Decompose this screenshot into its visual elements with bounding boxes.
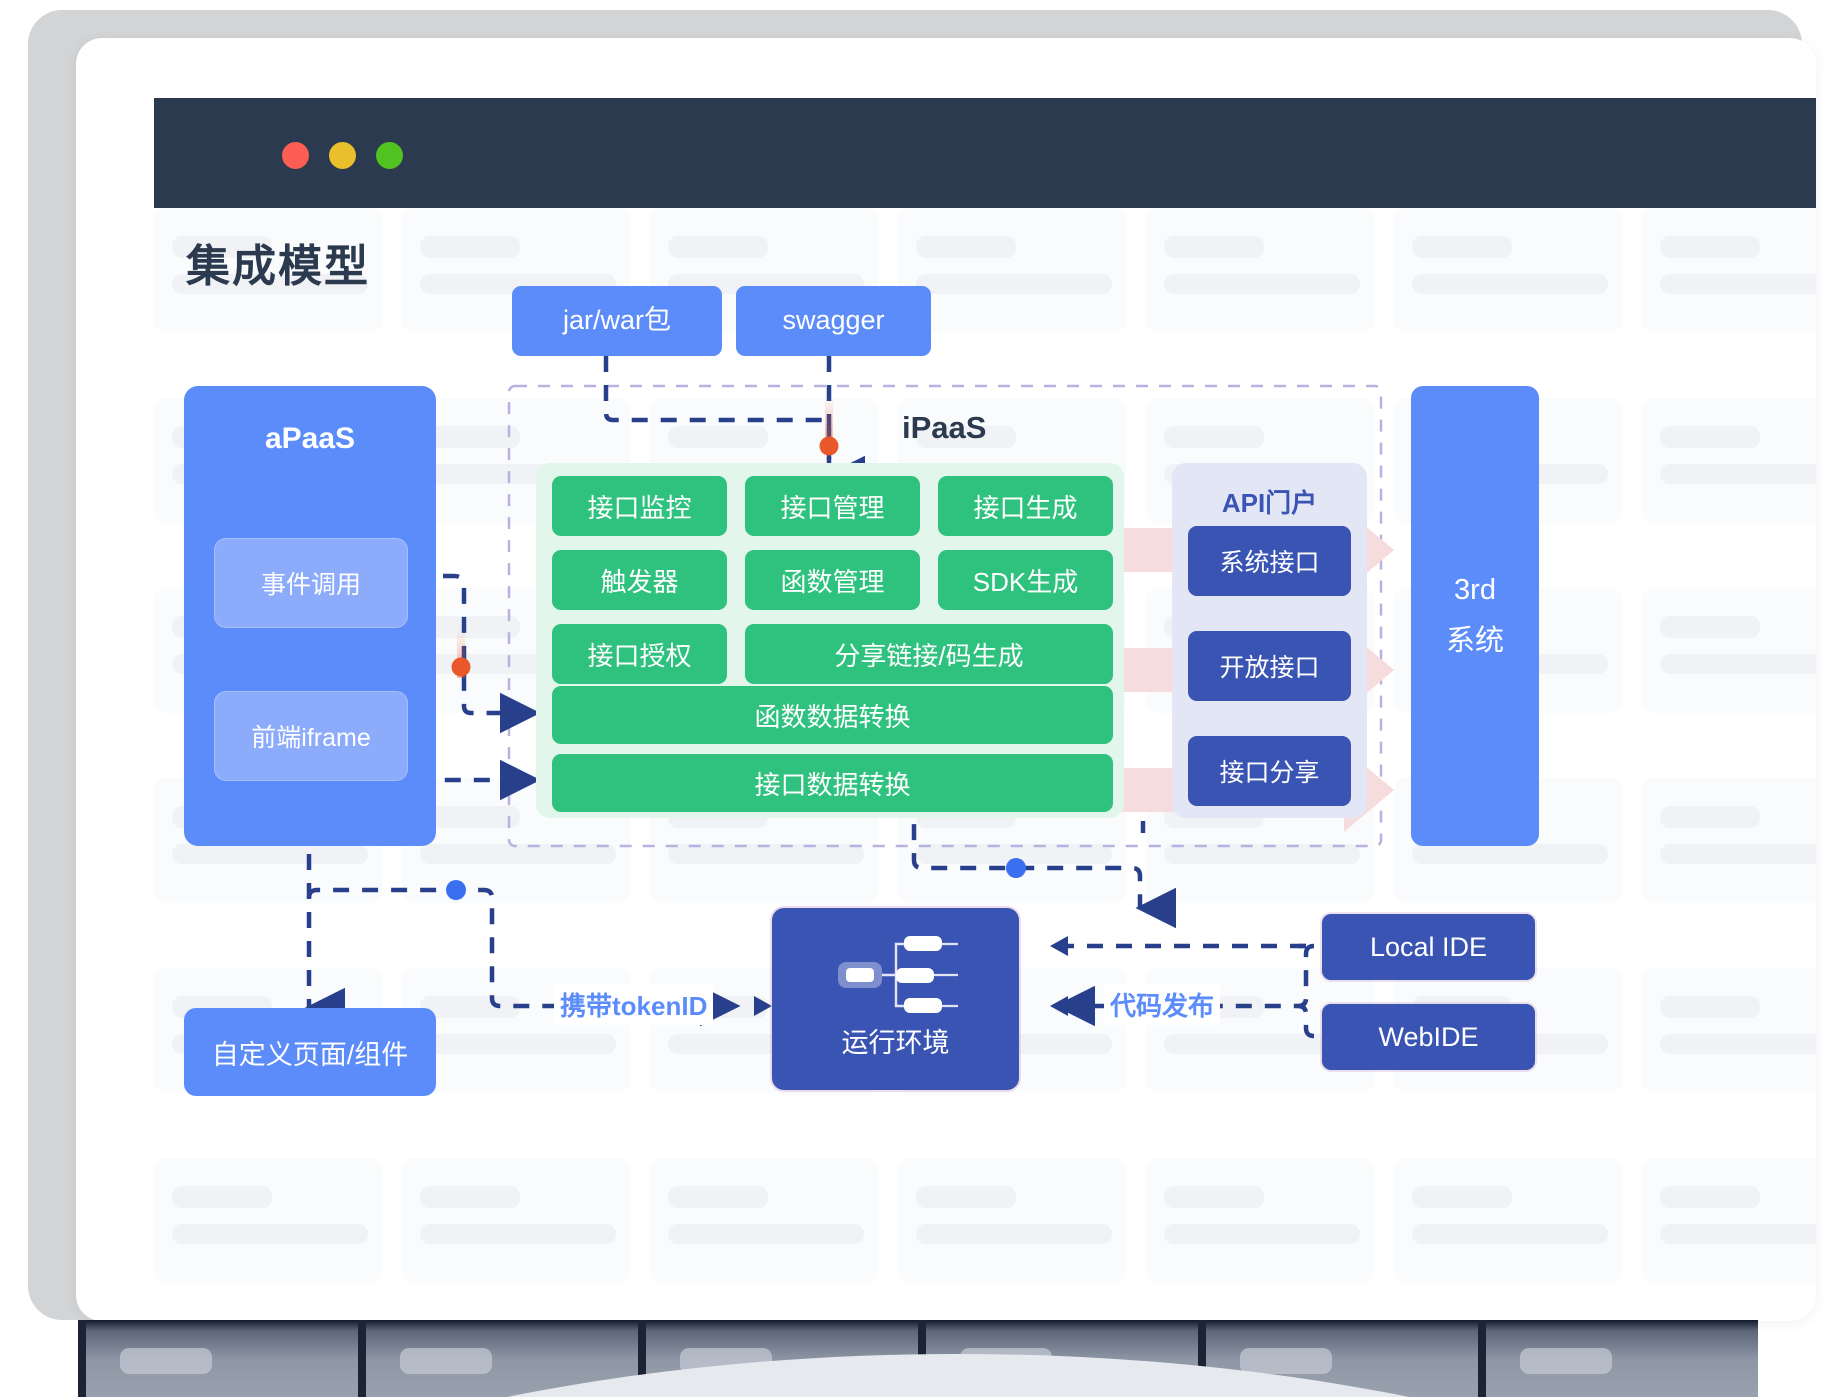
node-open-api-label: 开放接口 (1219, 648, 1319, 684)
hierarchy-icon (834, 930, 964, 1020)
node-local-ide-label: Local IDE (1370, 932, 1487, 963)
node-frontend-iframe-label: 前端iframe (251, 718, 370, 754)
node-function-data-transform[interactable]: 函数数据转换 (552, 686, 1113, 744)
node-api-auth-label: 接口授权 (587, 636, 691, 673)
flow-dot-4 (1006, 858, 1026, 878)
node-web-ide[interactable]: WebIDE (1322, 1004, 1535, 1070)
arrowhead-runtime-left (754, 996, 772, 1016)
arrowhead-runtime-right (1050, 996, 1068, 1016)
node-custom-page[interactable]: 自定义页面/组件 (184, 1008, 436, 1096)
node-function-data-transform-label: 函数数据转换 (754, 697, 910, 734)
node-api-data-transform-label: 接口数据转换 (754, 765, 910, 802)
edge-iframe-to-api-transform (424, 708, 536, 780)
node-share-link-label: 分享链接/码生成 (834, 636, 1023, 673)
node-api-auth[interactable]: 接口授权 (552, 624, 727, 684)
maximize-icon[interactable] (376, 142, 403, 169)
node-swagger[interactable]: swagger (736, 286, 931, 356)
node-third-system-line2: 系统 (1446, 617, 1504, 659)
node-jar-war[interactable]: jar/war包 (512, 286, 722, 356)
node-api-manage-label: 接口管理 (780, 488, 884, 525)
edge-web-ide-to-runtime (1298, 1006, 1314, 1036)
close-icon[interactable] (282, 142, 309, 169)
edge-label-code-publish: 代码发布 (1104, 984, 1220, 1025)
diagram-canvas: jar/war包 swagger aPaaS 事件调用 前端iframe iPa… (154, 208, 1816, 1321)
api-portal-title: API门户 (1172, 483, 1367, 520)
device-bezel (78, 1320, 1758, 1397)
browser-window: 集成模型 (76, 38, 1816, 1321)
node-third-system-line1: 3rd (1454, 574, 1496, 607)
node-api-monitor-label: 接口监控 (587, 488, 691, 525)
node-api-monitor[interactable]: 接口监控 (552, 476, 727, 536)
node-third-system[interactable]: 3rd 系统 (1411, 386, 1539, 846)
flow-dot-1 (820, 437, 839, 456)
node-apaas[interactable]: aPaaS 事件调用 前端iframe (184, 386, 436, 846)
edge-label-token-id: 携带tokenID (554, 984, 713, 1025)
node-sdk-generate[interactable]: SDK生成 (938, 550, 1113, 610)
node-custom-page-label: 自定义页面/组件 (212, 1033, 409, 1072)
node-local-ide[interactable]: Local IDE (1322, 914, 1535, 980)
minimize-icon[interactable] (329, 142, 356, 169)
node-runtime[interactable]: 运行环境 (772, 908, 1019, 1090)
node-trigger[interactable]: 触发器 (552, 550, 727, 610)
node-api-data-transform[interactable]: 接口数据转换 (552, 754, 1113, 812)
node-api-generate[interactable]: 接口生成 (938, 476, 1113, 536)
node-api-share[interactable]: 接口分享 (1188, 736, 1351, 806)
node-frontend-iframe[interactable]: 前端iframe (214, 691, 408, 781)
node-event-call-label: 事件调用 (261, 565, 361, 601)
device-frame: 集成模型 (28, 10, 1802, 1320)
flow-dot-2 (452, 658, 471, 677)
node-sdk-generate-label: SDK生成 (973, 562, 1078, 599)
node-api-share-label: 接口分享 (1219, 753, 1319, 789)
ipaas-title: iPaaS (902, 410, 986, 446)
flow-dot-3 (446, 880, 466, 900)
edge-jarwar-to-api-manage (606, 356, 829, 476)
node-trigger-label: 触发器 (600, 562, 678, 599)
node-api-generate-label: 接口生成 (973, 488, 1077, 525)
bezel-reflection (78, 1354, 1758, 1397)
apaas-title: aPaaS (184, 422, 436, 456)
node-share-link[interactable]: 分享链接/码生成 (745, 624, 1113, 684)
node-function-manage-label: 函数管理 (780, 562, 884, 599)
node-system-api[interactable]: 系统接口 (1188, 526, 1351, 596)
node-jar-war-label: jar/war包 (563, 304, 671, 338)
node-swagger-label: swagger (782, 304, 884, 338)
node-api-manage[interactable]: 接口管理 (745, 476, 920, 536)
node-web-ide-label: WebIDE (1378, 1022, 1478, 1053)
node-open-api[interactable]: 开放接口 (1188, 631, 1351, 701)
node-runtime-label: 运行环境 (772, 1021, 1019, 1060)
browser-titlebar (154, 98, 1816, 208)
node-event-call[interactable]: 事件调用 (214, 538, 408, 628)
node-system-api-label: 系统接口 (1219, 543, 1319, 579)
node-function-manage[interactable]: 函数管理 (745, 550, 920, 610)
